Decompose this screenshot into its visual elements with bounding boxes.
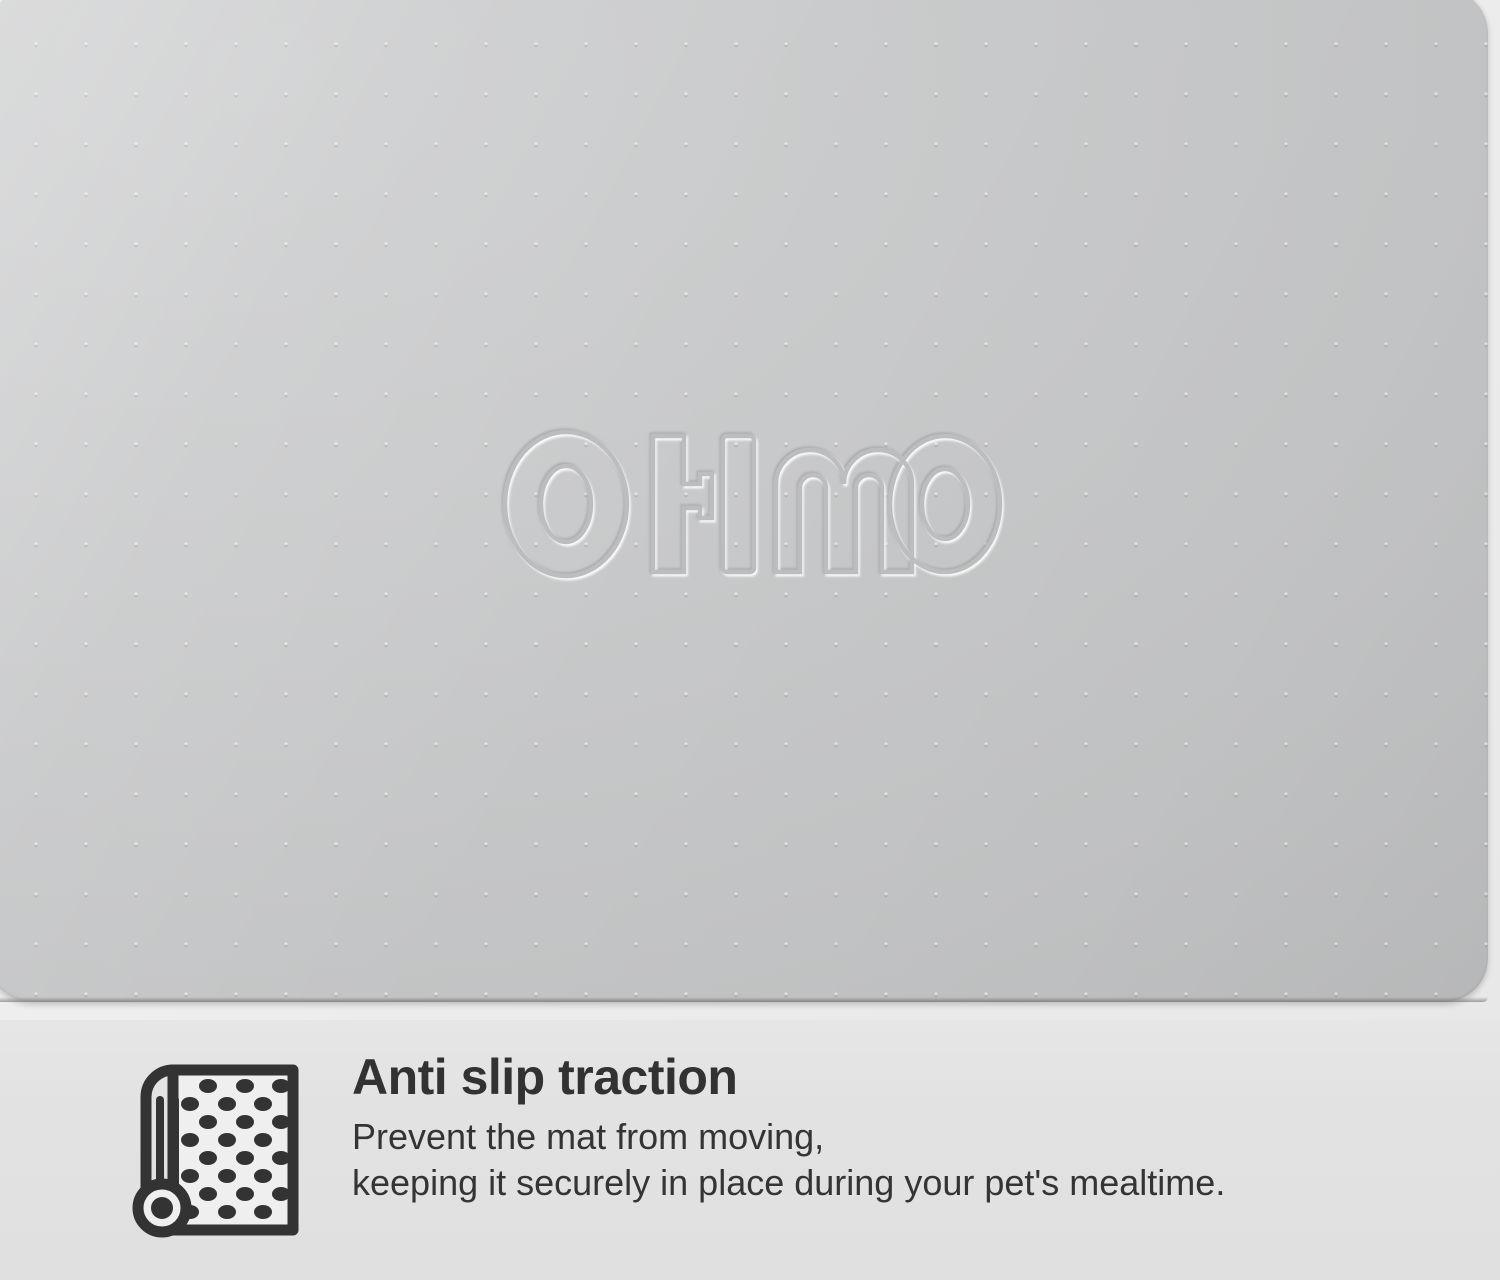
feature-description: Prevent the mat from moving, keeping it … <box>352 1114 1460 1206</box>
feature-caption-panel: Anti slip traction Prevent the mat from … <box>0 1020 1500 1280</box>
feature-description-line-2: keeping it securely in place during your… <box>352 1160 1460 1206</box>
rolled-textured-mat-icon <box>118 1038 308 1243</box>
feature-copy: Anti slip traction Prevent the mat from … <box>352 1038 1460 1206</box>
mat-dot-texture <box>0 0 1488 1002</box>
mat-sheen-overlay <box>0 0 1488 1002</box>
silicone-mat <box>0 0 1488 1002</box>
feature-headline: Anti slip traction <box>352 1052 1460 1102</box>
product-photo <box>0 0 1500 1020</box>
mat-bottom-edge <box>0 997 1488 1002</box>
feature-description-line-1: Prevent the mat from moving, <box>352 1114 1460 1160</box>
product-feature-image: Anti slip traction Prevent the mat from … <box>0 0 1500 1280</box>
